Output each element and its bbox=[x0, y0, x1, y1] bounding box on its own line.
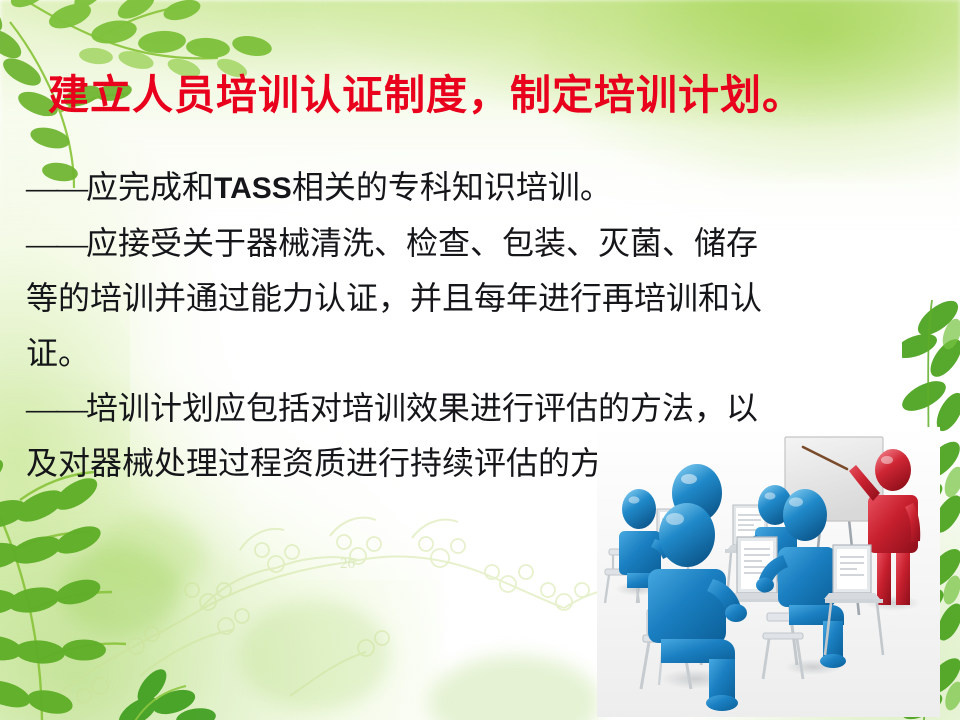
presentation-slide: 26 bbox=[0, 0, 960, 720]
floral-outline-decoration: 26 bbox=[40, 490, 660, 720]
student-front-right-foot bbox=[820, 654, 846, 668]
student-front-right-head bbox=[783, 489, 827, 541]
body-line-2: ——应接受关于器械清洗、检查、包装、灭菌、储存 bbox=[26, 216, 816, 271]
body-line-1-latin: TASS bbox=[214, 172, 292, 205]
body-line-1-text: 应完成和 bbox=[86, 169, 214, 205]
presenter-head bbox=[875, 449, 911, 491]
presenter-head-highlight bbox=[881, 456, 893, 464]
student-back-left-head bbox=[622, 489, 656, 529]
body-line-1: ——应完成和TASS相关的专科知识培训。 bbox=[26, 160, 816, 216]
body-line-3: 等的培训并通过能力认证，并且每年进行再培训和认 bbox=[26, 271, 816, 326]
body-line-4-text: 证。 bbox=[26, 335, 90, 371]
background-blob-3 bbox=[430, 655, 600, 720]
body-line-6-text: 及对器械处理过程资质进行持续评估的方法。 bbox=[26, 445, 666, 481]
classroom-scene-svg bbox=[597, 427, 940, 717]
slide-title: 建立人员培训认证制度，制定培训计划。 bbox=[48, 72, 908, 119]
body-line-1-text-after: 相关的专科知识培训。 bbox=[292, 169, 612, 205]
body-line-2-dash: —— bbox=[26, 225, 86, 261]
student-back-left-torso bbox=[619, 531, 661, 575]
student-front-left-head bbox=[659, 503, 715, 567]
background-blob-2 bbox=[240, 600, 390, 710]
background-blob-4 bbox=[95, 515, 205, 595]
faint-background-number: 26 bbox=[340, 556, 356, 572]
student-front-left-hand bbox=[725, 604, 747, 622]
background-blob-1 bbox=[60, 545, 180, 635]
body-line-2-text: 应接受关于器械清洗、检查、包装、灭菌、储存 bbox=[86, 225, 758, 261]
presenter-leg-right bbox=[896, 553, 910, 605]
presenter-leg-left bbox=[877, 553, 891, 605]
student-front-left-leg bbox=[709, 659, 735, 701]
body-line-5-text: 培训计划应包括对培训效果进行评估的方法，以 bbox=[86, 390, 758, 426]
student-front-right-hand bbox=[756, 578, 774, 593]
training-classroom-image bbox=[597, 427, 940, 717]
body-line-5-dash: —— bbox=[26, 390, 86, 426]
body-line-4: 证。 bbox=[26, 326, 816, 381]
body-line-3-text: 等的培训并通过能力认证，并且每年进行再培训和认 bbox=[26, 280, 762, 316]
body-line-1-dash: —— bbox=[26, 169, 86, 205]
student-front-left-foot bbox=[706, 695, 738, 711]
